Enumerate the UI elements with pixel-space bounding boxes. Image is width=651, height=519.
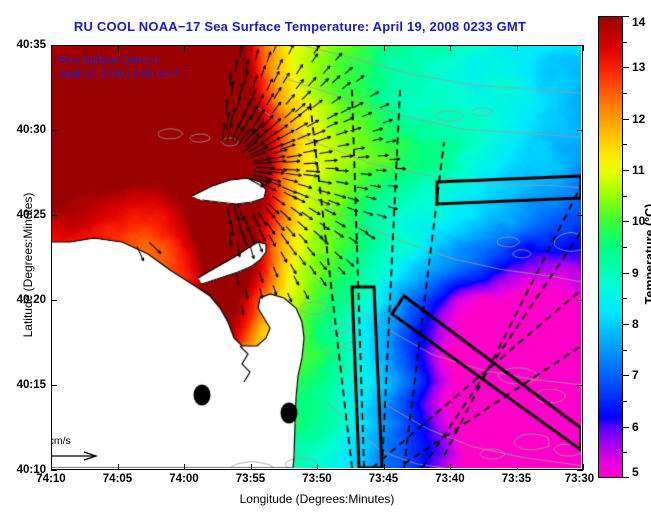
sst-heatmap-canvas bbox=[52, 46, 581, 468]
x-tick-label: 73:35 bbox=[502, 473, 531, 485]
colorbar-tick bbox=[623, 273, 629, 274]
colorbar-minor-tick bbox=[623, 144, 627, 145]
colorbar-tick bbox=[623, 427, 629, 428]
y-tick-label: 40:30 bbox=[17, 124, 46, 136]
colorbar-minor-tick bbox=[623, 401, 627, 402]
x-tick-label: 73:50 bbox=[302, 473, 331, 485]
colorbar-minor-tick bbox=[623, 350, 627, 351]
page-title: RU COOL NOAA−17 Sea Surface Temperature:… bbox=[0, 19, 600, 34]
colorbar-tick-label: 13 bbox=[632, 60, 645, 74]
colorbar-tick bbox=[623, 16, 629, 17]
x-tick-label: 73:40 bbox=[435, 473, 464, 485]
colorbar-minor-tick bbox=[623, 42, 627, 43]
colorbar-tick-label: 8 bbox=[632, 317, 639, 331]
colorbar-tick-label: 12 bbox=[632, 112, 645, 126]
colorbar-minor-tick bbox=[623, 298, 627, 299]
temperature-colorbar[interactable]: 141312111098765 bbox=[598, 16, 623, 478]
colorbar-tick-label: 9 bbox=[632, 266, 639, 280]
colorbar-tick bbox=[623, 170, 629, 171]
x-axis-title: Longitude (Degrees:Minutes) bbox=[51, 492, 583, 506]
x-tick-label: 74:10 bbox=[36, 473, 65, 485]
colorbar-tick bbox=[623, 67, 629, 68]
colorbar-tick-label: 14 bbox=[632, 15, 645, 29]
x-tick-label: 73:30 bbox=[565, 473, 594, 485]
colorbar-gradient bbox=[598, 16, 623, 478]
x-tick-label: 73:45 bbox=[369, 473, 398, 485]
y-tick-label: 40:10 bbox=[17, 464, 46, 476]
y-tick-label: 40:15 bbox=[17, 379, 46, 391]
colorbar-tick-label: 7 bbox=[632, 368, 639, 382]
colorbar-tick bbox=[623, 324, 629, 325]
colorbar-minor-tick bbox=[623, 247, 627, 248]
x-tick-label: 74:00 bbox=[169, 473, 198, 485]
colorbar-tick-label: 5 bbox=[632, 465, 639, 479]
x-tick-top bbox=[583, 45, 584, 51]
colorbar-tick bbox=[623, 375, 629, 376]
x-tick bbox=[583, 464, 584, 470]
x-tick-label: 74:05 bbox=[103, 473, 132, 485]
y-axis-title: Latitude (Degrees:Minutes) bbox=[21, 155, 35, 375]
colorbar-title: Temperature (°C) bbox=[643, 144, 651, 364]
colorbar-minor-tick bbox=[623, 93, 627, 94]
colorbar-minor-tick bbox=[623, 452, 627, 453]
y-tick bbox=[51, 470, 57, 471]
colorbar-tick bbox=[623, 221, 629, 222]
colorbar-tick bbox=[623, 477, 629, 478]
y-tick-right bbox=[577, 470, 583, 471]
sst-map-plot[interactable]: Raw Surface Current: April 19, 2008 02:0… bbox=[51, 45, 583, 470]
y-tick-label: 40:35 bbox=[17, 39, 46, 51]
colorbar-minor-tick bbox=[623, 196, 627, 197]
colorbar-tick bbox=[623, 119, 629, 120]
colorbar-tick-label: 6 bbox=[632, 420, 639, 434]
x-tick-label: 73:55 bbox=[236, 473, 265, 485]
